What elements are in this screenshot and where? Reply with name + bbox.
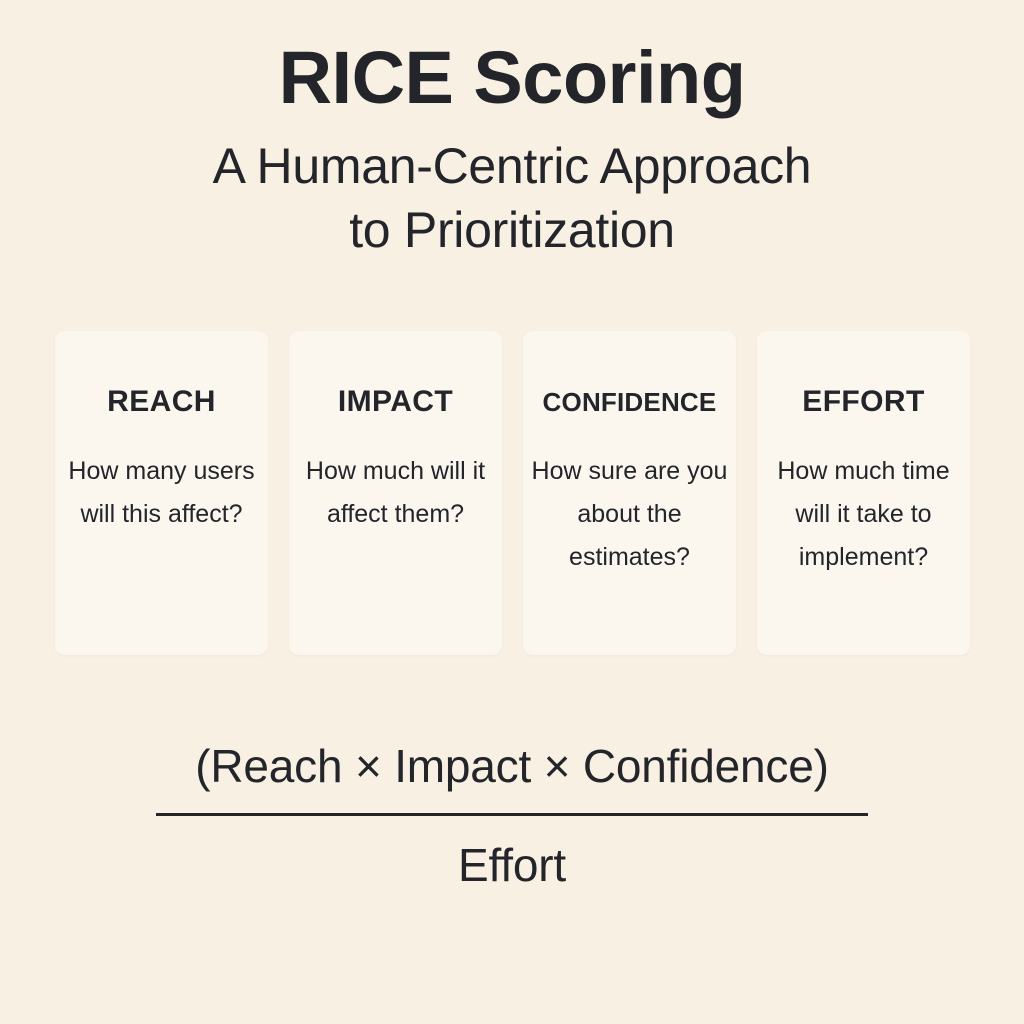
- formula-fraction: (Reach × Impact × Confidence) Effort: [156, 735, 868, 896]
- card-impact: IMPACT How much will it affect them?: [289, 331, 502, 655]
- page-title: RICE Scoring: [0, 30, 1024, 126]
- card-reach-body: How many users will this affect?: [63, 450, 260, 536]
- card-effort-heading: EFFORT: [765, 385, 962, 419]
- rice-card-group: REACH How many users will this affect? I…: [55, 331, 970, 655]
- card-impact-heading: IMPACT: [297, 385, 494, 419]
- formula-denominator: Effort: [156, 834, 868, 896]
- header: RICE Scoring A Human-Centric Approach to…: [0, 30, 1024, 262]
- card-confidence-body: How sure are you about the estimates?: [531, 450, 728, 579]
- card-confidence: CONFIDENCE How sure are you about the es…: [523, 331, 736, 655]
- page-subtitle-line-1: A Human-Centric Approach: [0, 134, 1024, 198]
- card-confidence-heading: CONFIDENCE: [531, 385, 728, 419]
- rice-formula: (Reach × Impact × Confidence) Effort: [0, 735, 1024, 896]
- card-reach: REACH How many users will this affect?: [55, 331, 268, 655]
- card-reach-heading: REACH: [63, 385, 260, 419]
- page-subtitle-line-2: to Prioritization: [0, 198, 1024, 262]
- formula-fraction-bar: [156, 813, 868, 816]
- card-impact-body: How much will it affect them?: [297, 450, 494, 536]
- formula-numerator: (Reach × Impact × Confidence): [156, 735, 868, 797]
- card-effort-body: How much time will it take to implement?: [765, 450, 962, 579]
- card-effort: EFFORT How much time will it take to imp…: [757, 331, 970, 655]
- infographic-canvas: RICE Scoring A Human-Centric Approach to…: [0, 0, 1024, 1024]
- page-subtitle: A Human-Centric Approach to Prioritizati…: [0, 134, 1024, 262]
